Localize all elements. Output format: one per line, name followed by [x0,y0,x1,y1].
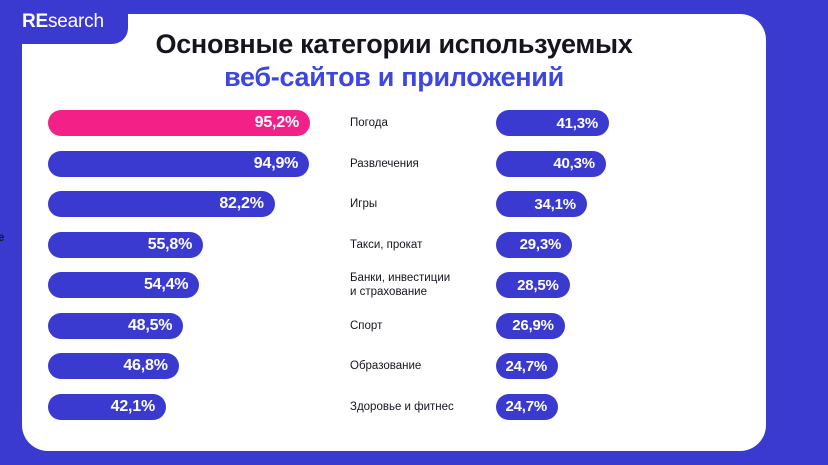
bar-category-label: Развлечения [350,157,486,171]
bar-chart: Чаты и мессенджеры95,2%Социальные сети94… [22,104,766,434]
bar-value-label: 24,7% [505,359,547,374]
bar-row: Поисковики и веб-порталы82,2% [48,191,388,217]
bar-row: Здоровье и фитнес24,7% [496,394,766,420]
bar: 55,8% [48,232,203,258]
bar-category-label: Спорт [350,319,486,333]
bar-row: Почта48,5% [48,313,388,339]
bar-row: Спорт26,9% [496,313,766,339]
bar-value-label: 94,9% [254,156,298,172]
bar-category-label: Образование [350,359,486,373]
bar: 24,7% [496,353,558,379]
bar-row: Образование24,7% [496,353,766,379]
bar-row: Новости42,1% [48,394,388,420]
bar-category-label: Шопинг, рекламные объявления [0,231,38,259]
bar-value-label: 40,3% [553,156,595,171]
bar-category-label: Музыка [0,359,38,373]
bar-value-label: 28,5% [517,278,559,293]
bar-category-label: Чаты и мессенджеры [0,109,38,137]
bar: 94,9% [48,151,309,177]
bar-value-label: 41,3% [556,116,598,131]
bar-row: Развлечения40,3% [496,151,766,177]
bar-category-label: Погода [350,116,486,130]
bar: 54,4% [48,272,199,298]
bar-row: Банки, инвестиции и страхование28,5% [496,272,766,298]
bar-value-label: 48,5% [128,318,172,334]
bar-category-label: Банки, инвестиции и страхование [350,271,486,299]
title-line-2: веб-сайтов и приложений [22,61,766,94]
bar-category-label: Такси, прокат [350,238,486,252]
bar: 95,2% [48,110,310,136]
bar-row: Чаты и мессенджеры95,2% [48,110,388,136]
bar-value-label: 82,2% [219,196,263,212]
bar-value-label: 46,8% [123,358,167,374]
bar-row: Шопинг, рекламные объявления55,8% [48,232,388,258]
title-line-1: Основные категории используемых [22,28,766,61]
bar: 29,3% [496,232,572,258]
bar-category-label: Социальные сети [0,157,38,171]
bar: 26,9% [496,313,565,339]
bar-chart-column-left: Чаты и мессенджеры95,2%Социальные сети94… [48,104,388,434]
bar-category-label: Игры [350,197,486,211]
bar-category-label: Карты, парковка или услуги по местополож… [0,264,38,306]
bar: 28,5% [496,272,570,298]
bar-value-label: 26,9% [512,318,554,333]
bar: 24,7% [496,394,558,420]
bar-value-label: 95,2% [255,115,299,131]
bar: 46,8% [48,353,179,379]
bar-row: Карты, парковка или услуги по местополож… [48,272,388,298]
page-title: Основные категории используемых веб-сайт… [22,28,766,94]
bar: 48,5% [48,313,183,339]
bar-value-label: 24,7% [505,399,547,414]
bar: 42,1% [48,394,166,420]
bar-value-label: 55,8% [148,237,192,253]
bar-category-label: Поисковики и веб-порталы [0,190,38,218]
bar: 34,1% [496,191,587,217]
bar: 41,3% [496,110,609,136]
bar-value-label: 34,1% [534,197,576,212]
bar-row: Такси, прокат29,3% [496,232,766,258]
bar-value-label: 54,4% [144,277,188,293]
bar-row: Музыка46,8% [48,353,388,379]
bar: 40,3% [496,151,606,177]
bar-category-label: Здоровье и фитнес [350,400,486,414]
bar-category-label: Почта [0,319,38,333]
bar-value-label: 29,3% [520,237,562,252]
bar-row: Игры34,1% [496,191,766,217]
bar-category-label: Новости [0,400,38,414]
bar-value-label: 42,1% [111,399,155,415]
bar-chart-column-right: Погода41,3%Развлечения40,3%Игры34,1%Такс… [496,104,766,434]
bar-row: Погода41,3% [496,110,766,136]
bar-row: Социальные сети94,9% [48,151,388,177]
bar: 82,2% [48,191,275,217]
infographic-poster: REsearch Основные категории используемых… [0,0,828,465]
